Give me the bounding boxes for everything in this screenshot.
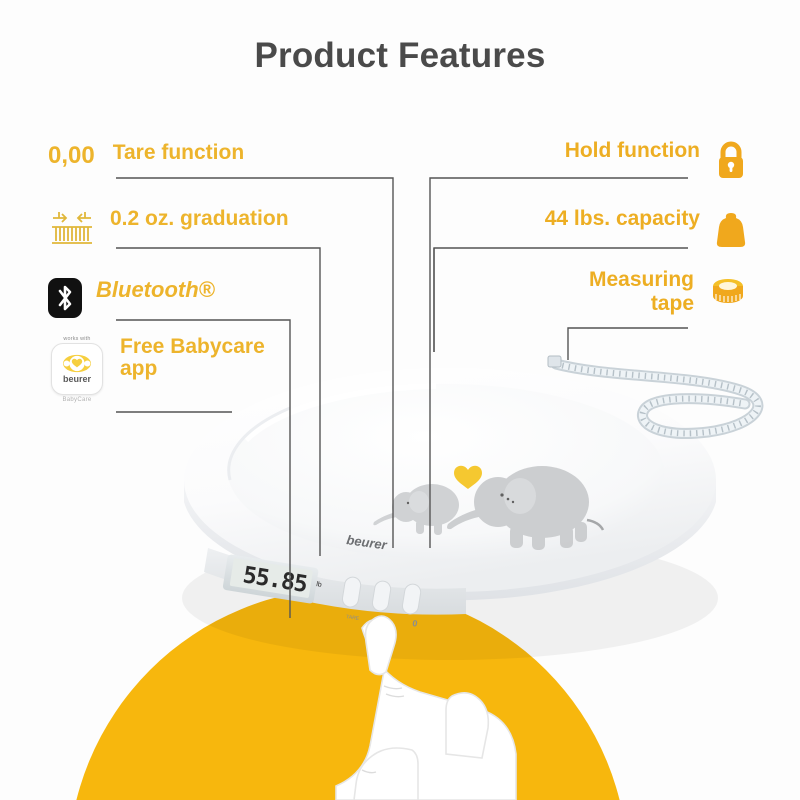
pacifier-icon — [62, 354, 92, 373]
feature-label: Bluetooth® — [96, 278, 215, 301]
infographic-canvas: beurer 55.85 lb TARE HOLD 0 — [0, 0, 800, 800]
bluetooth-icon — [48, 278, 82, 318]
beurer-babycare-app-icon: works with beurer BabyCare — [48, 336, 106, 408]
feature-label: 44 lbs. capacity — [545, 208, 700, 230]
padlock-icon — [714, 140, 748, 180]
weight-icon — [714, 208, 748, 250]
app-badge-works-with: works with — [48, 336, 106, 342]
page-title: Product Features — [0, 36, 800, 76]
feature-tare-function: 0,00 Tare function — [48, 142, 244, 170]
feature-graduation: 0.2 oz. graduation — [48, 208, 289, 250]
feature-label: Tare function — [113, 142, 244, 164]
app-badge-card: beurer — [51, 343, 103, 395]
zero-zero-icon: 0,00 — [48, 142, 99, 170]
app-badge-brand: beurer — [63, 374, 91, 384]
feature-measuring-tape: Measuring tape — [520, 268, 748, 315]
measuring-tape-icon — [708, 274, 748, 310]
graduation-ruler-icon — [48, 208, 96, 250]
feature-label: 0.2 oz. graduation — [110, 208, 289, 230]
feature-label: Free Babycare app — [120, 336, 265, 381]
feature-babycare-app: works with beurer BabyCare Free Babycare… — [48, 336, 265, 408]
feature-label: Measuring tape — [589, 268, 694, 315]
feature-capacity: 44 lbs. capacity — [520, 208, 748, 250]
feature-bluetooth: Bluetooth® — [48, 278, 215, 318]
feature-hold-function: Hold function — [520, 140, 748, 180]
feature-label: Hold function — [565, 140, 700, 162]
app-badge-product-line: BabyCare — [48, 397, 106, 403]
